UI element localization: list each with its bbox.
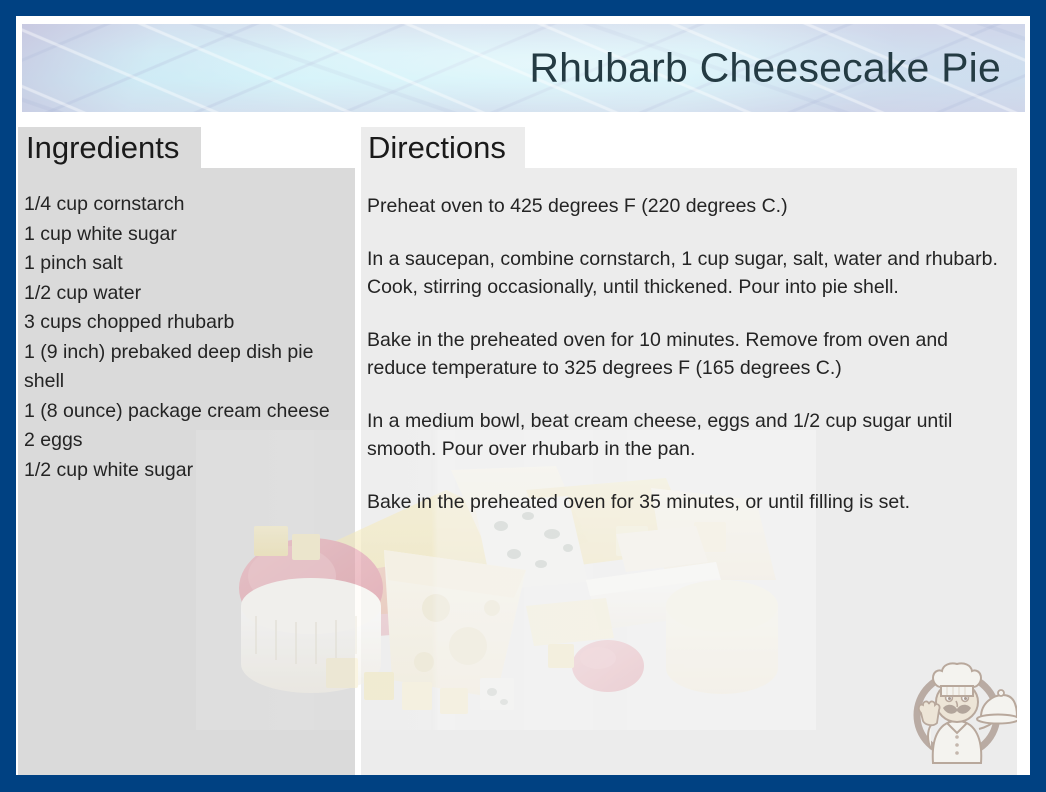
ingredient-item: 1 (8 ounce) package cream cheese	[24, 397, 349, 427]
ingredient-item: 1 cup white sugar	[24, 220, 349, 250]
ingredient-item: 1/2 cup water	[24, 279, 349, 309]
direction-step: Preheat oven to 425 degrees F (220 degre…	[367, 192, 1013, 220]
ingredients-list: 1/4 cup cornstarch1 cup white sugar1 pin…	[24, 190, 349, 485]
directions-heading-label: Directions	[368, 132, 506, 163]
ingredient-item: 3 cups chopped rhubarb	[24, 308, 349, 338]
ingredient-item: 1 (9 inch) prebaked deep dish pie shell	[24, 338, 349, 397]
chef-logo-watermark	[897, 645, 1017, 767]
card-border-top	[0, 0, 1046, 16]
direction-step: Bake in the preheated oven for 35 minute…	[367, 488, 1013, 516]
ingredient-item: 1/4 cup cornstarch	[24, 190, 349, 220]
card-border-left	[0, 0, 16, 792]
page-title: Rhubarb Cheesecake Pie	[529, 48, 1001, 89]
card-border-right	[1030, 0, 1046, 792]
ingredients-heading-label: Ingredients	[26, 132, 179, 163]
section-heading-ingredients: Ingredients	[18, 127, 201, 168]
directions-list: Preheat oven to 425 degrees F (220 degre…	[367, 192, 1013, 516]
direction-step: In a saucepan, combine cornstarch, 1 cup…	[367, 245, 1013, 301]
title-banner: Rhubarb Cheesecake Pie	[22, 24, 1025, 112]
section-heading-directions: Directions	[361, 127, 525, 168]
direction-step: Bake in the preheated oven for 10 minute…	[367, 326, 1013, 382]
card-border-bottom	[0, 775, 1046, 792]
direction-step: In a medium bowl, beat cream cheese, egg…	[367, 407, 1013, 463]
ingredient-item: 1 pinch salt	[24, 249, 349, 279]
recipe-card: Rhubarb Cheesecake Pie	[0, 0, 1046, 792]
ingredient-item: 1/2 cup white sugar	[24, 456, 349, 486]
ingredient-item: 2 eggs	[24, 426, 349, 456]
